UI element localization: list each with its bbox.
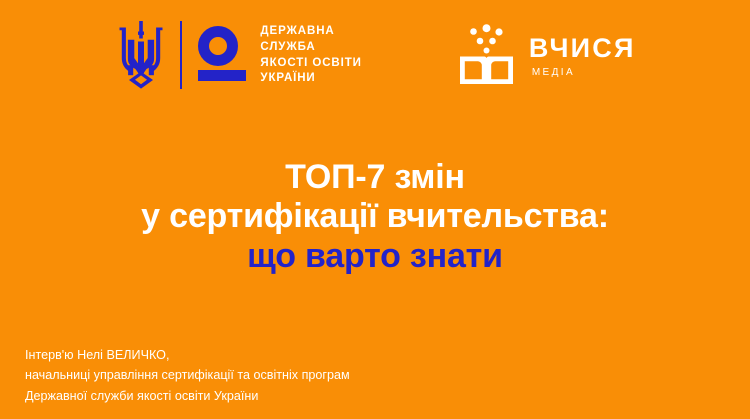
logo-divider [180,21,182,89]
ukraine-trident-icon [114,20,168,90]
caption-line-1: Інтерв'ю Нелі ВЕЛИЧКО, [25,345,545,365]
sqe-line-3: ЯКОСТІ ОСВІТИ [260,56,361,71]
headline: ТОП-7 змін у сертифікації вчительства: щ… [0,158,750,276]
open-book-with-dots-icon [458,24,516,86]
headline-line-2: у сертифікації вчительства: [0,197,750,236]
logo-bar: ДЕРЖАВНА СЛУЖБА ЯКОСТІ ОСВІТИ УКРАЇНИ [0,14,750,96]
caption-line-2: начальниці управління сертифікації та ос… [25,365,545,385]
headline-line-3: що варто знати [0,237,750,276]
headline-line-1: ТОП-7 змін [0,158,750,197]
poster-canvas: ДЕРЖАВНА СЛУЖБА ЯКОСТІ ОСВІТИ УКРАЇНИ [0,0,750,419]
caption-block: Інтерв'ю Нелі ВЕЛИЧКО, начальниці управл… [25,345,545,406]
ring-shape [198,26,238,66]
sqe-line-4: УКРАЇНИ [260,71,361,86]
sqe-wordmark: ДЕРЖАВНА СЛУЖБА ЯКОСТІ ОСВІТИ УКРАЇНИ [260,24,361,86]
vchysia-wordmark: ВЧИСЯ МЕДІА [529,32,636,78]
caption-line-3: Державної служби якості освіти України [25,386,545,406]
vchysia-subtitle: МЕДІА [532,68,636,78]
sqe-line-2: СЛУЖБА [260,40,361,55]
bar-shape [198,70,246,81]
ring-and-bar-icon [196,22,248,88]
sqe-line-1: ДЕРЖАВНА [260,24,361,39]
logo-cluster: ДЕРЖАВНА СЛУЖБА ЯКОСТІ ОСВІТИ УКРАЇНИ [114,20,635,90]
vchysia-name: ВЧИСЯ [529,35,636,62]
